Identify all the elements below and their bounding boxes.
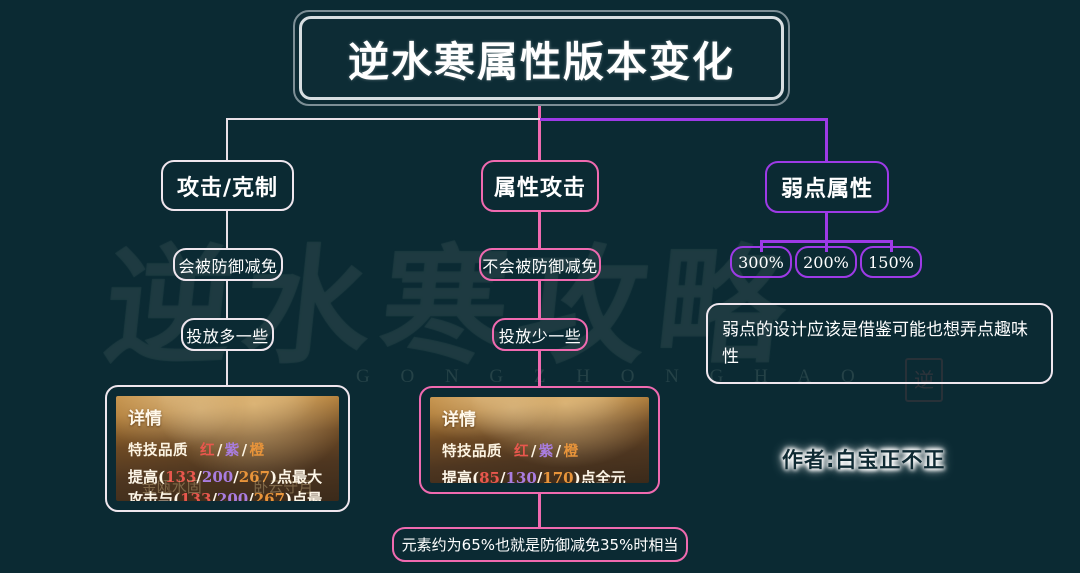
node-middle-conclusion-label: 元素约为65%也就是防御减免35%时相当 [402, 534, 679, 555]
value-red-1: 85 [479, 469, 500, 483]
connector-left-l3-card [226, 351, 228, 386]
node-right-level1[interactable]: 弱点属性 [765, 161, 889, 213]
node-left-level2[interactable]: 会被防御减免 [173, 248, 283, 281]
connector-middle-l3-card [538, 351, 541, 386]
connector-left-l1-l2 [226, 211, 228, 249]
node-middle-level3[interactable]: 投放少一些 [492, 318, 588, 351]
connector-drop-left [226, 118, 228, 162]
desc-prefix: 提高( [128, 468, 165, 486]
node-weakness-percent-300[interactable]: 300% [730, 246, 792, 278]
value-red-1: 133 [165, 468, 196, 486]
node-middle-level1-label: 属性攻击 [494, 170, 586, 202]
weakness-percent-200-label: 200% [803, 253, 849, 272]
detail-card-left-quality-row: 特技品质红/紫/橙 [128, 439, 327, 460]
quality-label: 特技品质 [442, 443, 502, 460]
weakness-percent-150-label: 150% [868, 253, 914, 272]
author-credit: 作者:白宝正不正 [782, 444, 945, 474]
note-box-weakness-design[interactable]: 弱点的设计应该是借鉴可能也想弄点趣味性 [706, 303, 1053, 384]
detail-card-middle-body: 特技品质红/紫/橙 提高(85/130/170)点全元素攻击 [430, 430, 649, 483]
detail-card-left-body: 特技品质红/紫/橙 提高(133/200/267)点最大攻击与(133/200/… [116, 429, 339, 501]
node-middle-level1[interactable]: 属性攻击 [481, 160, 599, 212]
node-middle-level2[interactable]: 不会被防御减免 [479, 248, 601, 281]
desc-prefix: 提高( [442, 469, 479, 483]
node-middle-level2-label: 不会被防御减免 [482, 253, 598, 277]
weakness-percent-300-label: 300% [738, 253, 784, 272]
value-orange-1: 267 [239, 468, 270, 486]
value-purple-2: 200 [217, 490, 248, 501]
node-left-level3[interactable]: 投放多一些 [181, 318, 274, 351]
note-box-text: 弱点的设计应该是借鉴可能也想弄点趣味性 [722, 317, 1037, 371]
value-orange-2: 267 [254, 490, 285, 501]
detail-card-middle-description: 提高(85/130/170)点全元素攻击 [442, 467, 637, 483]
detail-card-left-title: 详情 [116, 396, 339, 429]
detail-card-middle-quality-row: 特技品质红/紫/橙 [442, 440, 637, 461]
detail-card-left-description: 提高(133/200/267)点最大攻击与(133/200/267)点最小攻击 [128, 466, 327, 501]
node-left-level1[interactable]: 攻击/克制 [161, 160, 294, 211]
node-left-level1-label: 攻击/克制 [177, 170, 278, 202]
connector-middle-l2-l3 [538, 281, 541, 319]
connector-horizontal-right [540, 118, 828, 121]
connector-middle-card-conclusion [538, 494, 541, 528]
quality-purple: 紫 [225, 442, 240, 459]
page-title: 逆水寒属性版本变化 [348, 28, 735, 88]
value-red-2: 133 [180, 490, 211, 501]
detail-card-middle-inner: 详情 特技品质红/紫/橙 提高(85/130/170)点全元素攻击 [430, 397, 649, 483]
value-purple-1: 200 [202, 468, 233, 486]
quality-orange: 橙 [250, 442, 265, 459]
title-box: 逆水寒属性版本变化 [293, 10, 790, 106]
connector-right-stem [825, 213, 828, 242]
detail-card-left-inner: 详情 特技品质红/紫/橙 提高(133/200/267)点最大攻击与(133/2… [116, 396, 339, 501]
node-left-level3-label: 投放多一些 [186, 323, 269, 347]
connector-middle-l1-l2 [538, 212, 541, 249]
quality-orange: 橙 [564, 443, 579, 460]
value-orange-1: 170 [542, 469, 573, 483]
node-middle-level3-label: 投放少一些 [499, 323, 582, 347]
node-left-level2-label: 会被防御减免 [178, 253, 277, 277]
connector-drop-right [825, 118, 828, 162]
title-inner-frame: 逆水寒属性版本变化 [299, 16, 784, 100]
quality-red: 红 [514, 443, 529, 460]
node-weakness-percent-150[interactable]: 150% [860, 246, 922, 278]
node-weakness-percent-200[interactable]: 200% [795, 246, 857, 278]
node-middle-conclusion[interactable]: 元素约为65%也就是防御减免35%时相当 [392, 527, 688, 562]
value-purple-1: 130 [505, 469, 536, 483]
detail-card-middle-title: 详情 [430, 397, 649, 430]
detail-card-left[interactable]: 详情 特技品质红/紫/橙 提高(133/200/267)点最大攻击与(133/2… [105, 385, 350, 512]
node-right-level1-label: 弱点属性 [781, 171, 873, 203]
quality-purple: 紫 [539, 443, 554, 460]
detail-card-middle[interactable]: 详情 特技品质红/紫/橙 提高(85/130/170)点全元素攻击 [419, 386, 660, 494]
connector-title-stem [538, 106, 541, 162]
connector-horizontal-left [226, 118, 540, 120]
connector-left-l2-l3 [226, 281, 228, 319]
mindmap-canvas: 逆水寒攻略 G O N G Z H O N G H A O 逆 逆水寒属性版本变… [0, 0, 1080, 573]
quality-red: 红 [200, 442, 215, 459]
quality-label: 特技品质 [128, 442, 188, 459]
